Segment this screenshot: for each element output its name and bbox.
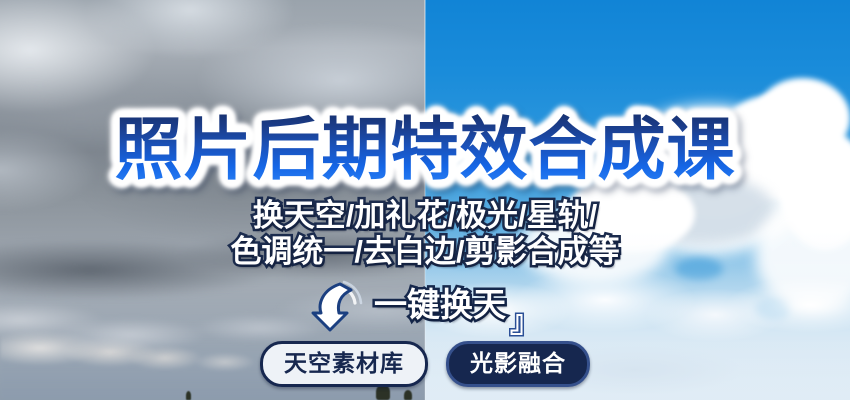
badge-sky-asset-library[interactable]: 天空素材库 [260, 341, 428, 387]
one-click-callout-row: 一键换天 』 [0, 278, 850, 332]
corner-bracket-glyph: 』 [510, 304, 540, 342]
banner-content: 照片后期特效合成课 换天空/加礼花/极光/星轨/ 色调统一/去白边/剪影合成等 … [0, 0, 850, 400]
subtitle-line-1: 换天空/加礼花/极光/星轨/ [0, 198, 850, 234]
sky-replacement-course-banner: 照片后期特效合成课 换天空/加礼花/极光/星轨/ 色调统一/去白边/剪影合成等 … [0, 0, 850, 400]
badge-group: 天空素材库 光影融合 [0, 341, 850, 387]
subtitle-line-2: 色调统一/去白边/剪影合成等 [0, 234, 850, 270]
badge-light-shadow-blend[interactable]: 光影融合 [446, 341, 590, 387]
one-click-callout-text: 一键换天 [374, 286, 506, 324]
page-title: 照片后期特效合成课 [0, 112, 850, 188]
curved-down-arrow-icon [310, 280, 366, 332]
